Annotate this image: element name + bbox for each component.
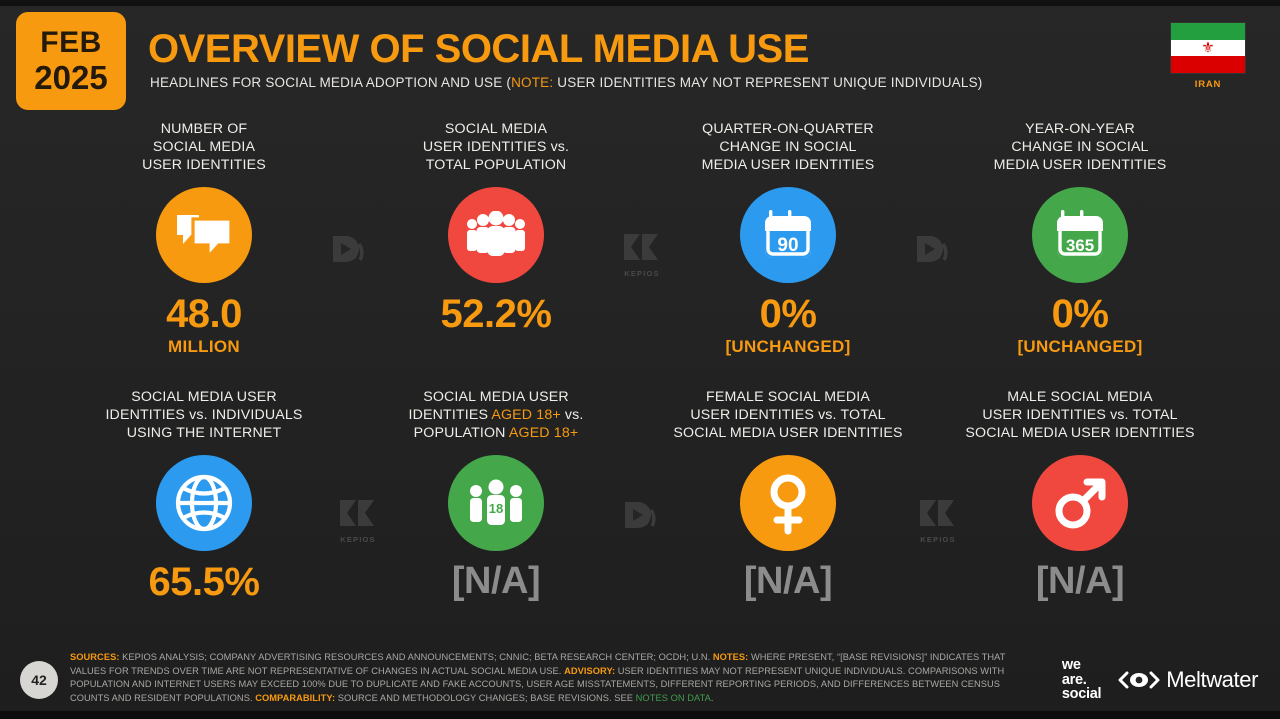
date-month: FEB (40, 28, 102, 58)
metric-value: 52.2% (350, 294, 642, 334)
sources-text: KEPIOS ANALYSIS; COMPANY ADVERTISING RES… (119, 652, 712, 662)
meltwater-wordmark: Meltwater (1166, 667, 1258, 693)
footnote: SOURCES: KEPIOS ANALYSIS; COMPANY ADVERT… (70, 651, 1010, 705)
people-age-number: 18 (489, 501, 503, 516)
notes-on-data-link[interactable]: NOTES ON DATA (636, 693, 711, 703)
country-flag-block: ⚜ IRAN (1164, 22, 1252, 90)
subtitle-tail: USER IDENTITIES MAY NOT REPRESENT UNIQUE… (553, 75, 982, 90)
was-line-2: are. (1062, 673, 1101, 687)
brand-logos: we are. social Meltwater (1062, 658, 1258, 701)
kepios-label: KEPIOS (328, 535, 388, 544)
globe-icon (156, 455, 252, 551)
caption-line: MALE SOCIAL MEDIA (1007, 389, 1153, 405)
flag-stripe-green (1171, 23, 1245, 40)
caption-highlight: AGED 18+ (509, 425, 578, 441)
metric-card-5: SOCIAL MEDIA USER IDENTITIES AGED 18+ vs… (350, 388, 642, 626)
caption-line: USER IDENTITIES vs. TOTAL (690, 407, 885, 423)
caption-line: FEMALE SOCIAL MEDIA (706, 389, 870, 405)
calendar-number: 365 (1066, 236, 1094, 255)
metric-caption: SOCIAL MEDIA USER IDENTITIES vs. INDIVID… (58, 388, 350, 444)
slide-root: FEB 2025 OVERVIEW OF SOCIAL MEDIA USE HE… (0, 0, 1280, 719)
metric-sublabel: MILLION (58, 338, 350, 358)
kepios-logo: KEPIOS (908, 498, 968, 544)
page-number-badge: 42 (20, 661, 58, 699)
datareportal-logo (614, 498, 674, 537)
caption-line: MEDIA USER IDENTITIES (994, 157, 1167, 173)
metric-icon-wrap: 90 (642, 186, 934, 284)
page-title: OVERVIEW OF SOCIAL MEDIA USE (148, 27, 809, 72)
male-symbol-icon (1032, 455, 1128, 551)
metric-value: 0% (642, 294, 934, 334)
caption-line: QUARTER-ON-QUARTER (702, 121, 874, 137)
metric-card-2: QUARTER-ON-QUARTER CHANGE IN SOCIAL MEDI… (642, 120, 934, 358)
meltwater-logo: Meltwater (1117, 667, 1258, 693)
country-name: IRAN (1164, 79, 1252, 90)
metric-sublabel: [UNCHANGED] (934, 338, 1226, 358)
kepios-logo: KEPIOS (328, 498, 388, 544)
date-year: 2025 (34, 61, 107, 94)
metric-card-3: YEAR-ON-YEAR CHANGE IN SOCIAL MEDIA USER… (934, 120, 1226, 358)
page-subtitle: HEADLINES FOR SOCIAL MEDIA ADOPTION AND … (150, 75, 982, 90)
people-group-icon (448, 187, 544, 283)
was-line-1: we (1062, 658, 1101, 672)
caption-line: YEAR-ON-YEAR (1025, 121, 1135, 137)
caption-line: SOCIAL MEDIA USER IDENTITIES (965, 425, 1194, 441)
metric-card-1: SOCIAL MEDIA USER IDENTITIES vs. TOTAL P… (350, 120, 642, 358)
metric-sublabel (58, 606, 350, 626)
caption-line: CHANGE IN SOCIAL (719, 139, 856, 155)
kepios-logo: KEPIOS (612, 232, 672, 278)
kepios-label: KEPIOS (908, 535, 968, 544)
flag-stripe-red (1171, 56, 1245, 73)
caption-line: USER IDENTITIES (142, 157, 266, 173)
metric-card-6: FEMALE SOCIAL MEDIA USER IDENTITIES vs. … (642, 388, 934, 626)
metric-icon-wrap (58, 454, 350, 552)
metric-sublabel: [UNCHANGED] (642, 338, 934, 358)
caption-line: CHANGE IN SOCIAL (1011, 139, 1148, 155)
female-symbol-icon (740, 455, 836, 551)
calendar-90-icon: 90 (740, 187, 836, 283)
top-bar (0, 0, 1280, 6)
metric-value: 65.5% (58, 562, 350, 602)
caption-line: SOCIAL MEDIA (153, 139, 255, 155)
caption-line: USER IDENTITIES vs. (423, 139, 569, 155)
comparability-label: COMPARABILITY: (255, 693, 335, 703)
metric-value: [N/A] (642, 562, 934, 600)
subtitle-main: HEADLINES FOR SOCIAL MEDIA ADOPTION AND … (150, 75, 511, 90)
metric-value: 0% (934, 294, 1226, 334)
metric-caption: NUMBER OF SOCIAL MEDIA USER IDENTITIES (58, 120, 350, 176)
caption-line: TOTAL POPULATION (426, 157, 567, 173)
comparability-text: SOURCE AND METHODOLOGY CHANGES; BASE REV… (335, 693, 636, 703)
metric-card-0: NUMBER OF SOCIAL MEDIA USER IDENTITIES 4… (58, 120, 350, 358)
metric-caption: MALE SOCIAL MEDIA USER IDENTITIES vs. TO… (934, 388, 1226, 444)
metric-caption: FEMALE SOCIAL MEDIA USER IDENTITIES vs. … (642, 388, 934, 444)
metric-sublabel (642, 604, 934, 624)
bottom-bar (0, 711, 1280, 719)
metric-icon-wrap (642, 454, 934, 552)
metric-icon-wrap (350, 186, 642, 284)
flag-iran-icon: ⚜ (1170, 22, 1246, 74)
notes-label: NOTES: (713, 652, 748, 662)
people-18-icon: 18 (448, 455, 544, 551)
caption-line-2: IDENTITIES AGED 18+ vs. (409, 407, 584, 423)
caption-line: SOCIAL MEDIA USER (131, 389, 277, 405)
subtitle-note-label: NOTE: (511, 75, 553, 90)
kepios-label: KEPIOS (612, 269, 672, 278)
caption-line: SOCIAL MEDIA (445, 121, 547, 137)
metric-value: 48.0 (58, 294, 350, 334)
caption-line: SOCIAL MEDIA USER (423, 389, 569, 405)
metric-card-4: SOCIAL MEDIA USER IDENTITIES vs. INDIVID… (58, 388, 350, 626)
metric-icon-wrap: 365 (934, 186, 1226, 284)
metric-card-7: MALE SOCIAL MEDIA USER IDENTITIES vs. TO… (934, 388, 1226, 626)
metric-caption: SOCIAL MEDIA USER IDENTITIES vs. TOTAL P… (350, 120, 642, 176)
metric-caption: QUARTER-ON-QUARTER CHANGE IN SOCIAL MEDI… (642, 120, 934, 176)
metric-sublabel (350, 338, 642, 358)
metric-sublabel (934, 604, 1226, 624)
speech-bubbles-icon (156, 187, 252, 283)
datareportal-logo (322, 232, 382, 271)
calendar-number: 90 (777, 235, 798, 256)
caption-line: MEDIA USER IDENTITIES (702, 157, 875, 173)
caption-line-3: POPULATION AGED 18+ (414, 425, 579, 441)
we-are-social-logo: we are. social (1062, 658, 1101, 701)
caption-line: SOCIAL MEDIA USER IDENTITIES (673, 425, 902, 441)
was-line-3: social (1062, 687, 1101, 701)
caption-line: NUMBER OF (161, 121, 247, 137)
flag-emblem-icon: ⚜ (1201, 41, 1214, 56)
metric-value: [N/A] (350, 562, 642, 600)
advisory-label: ADVISORY: (564, 666, 615, 676)
metric-icon-wrap (934, 454, 1226, 552)
metric-sublabel (350, 604, 642, 624)
datareportal-logo (906, 232, 966, 271)
metric-caption: SOCIAL MEDIA USER IDENTITIES AGED 18+ vs… (350, 388, 642, 444)
calendar-365-icon: 365 (1032, 187, 1128, 283)
caption-line: USER IDENTITIES vs. TOTAL (982, 407, 1177, 423)
caption-highlight: AGED 18+ (491, 407, 560, 423)
meltwater-eye-icon (1117, 670, 1161, 689)
sources-label: SOURCES: (70, 652, 119, 662)
date-badge: FEB 2025 (16, 12, 126, 110)
metric-icon-wrap: 18 (350, 454, 642, 552)
metric-caption: YEAR-ON-YEAR CHANGE IN SOCIAL MEDIA USER… (934, 120, 1226, 176)
caption-line: IDENTITIES vs. INDIVIDUALS (105, 407, 302, 423)
caption-line: USING THE INTERNET (127, 425, 282, 441)
footer-end: . (711, 693, 714, 703)
metric-icon-wrap (58, 186, 350, 284)
metric-value: [N/A] (934, 562, 1226, 600)
